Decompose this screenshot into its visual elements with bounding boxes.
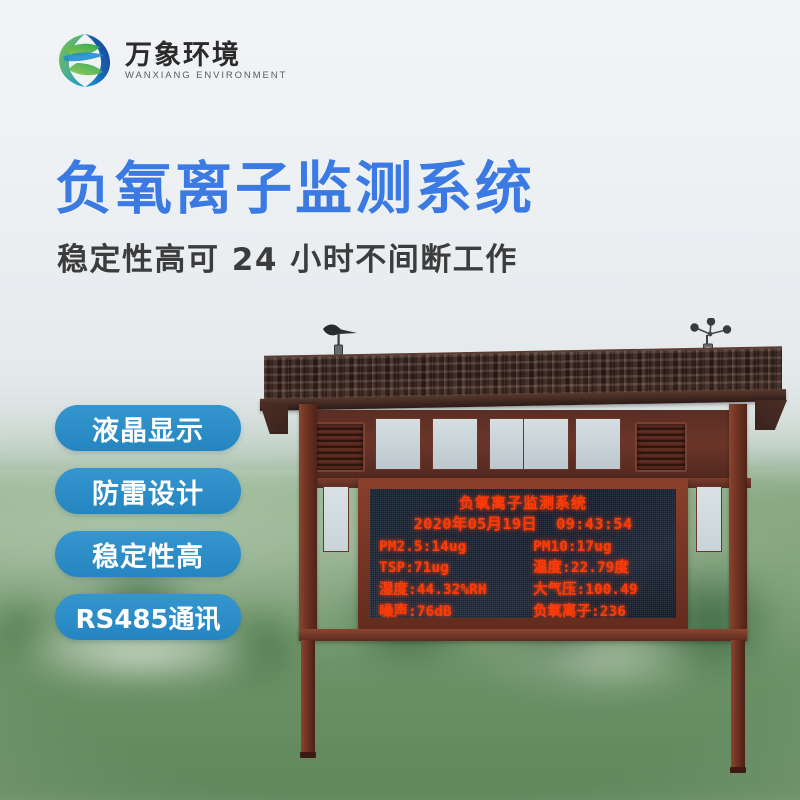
led-display-screen[interactable]: 负氧离子监测系统 2020年05月19日 09:43:54 PM2.5:14ug… [370, 489, 676, 618]
wind-vane-icon [317, 320, 361, 358]
feature-badge-lcd-display[interactable]: 液晶显示 [55, 405, 241, 451]
page-stage: 万象环境 WANXIANG ENVIRONMENT 负氧离子监测系统 稳定性高可… [0, 0, 800, 800]
support-post-right [729, 404, 747, 640]
support-post-left [299, 404, 317, 640]
feature-badge-stability[interactable]: 稳定性高 [55, 531, 241, 577]
led-datetime: 2020年05月19日 09:43:54 [379, 514, 667, 534]
led-date: 2020年05月19日 [414, 515, 537, 533]
reading-pm25: PM2.5:14ug [379, 537, 521, 558]
reading-pressure: 大气压:100.49 [525, 580, 667, 601]
support-leg-right [731, 640, 745, 770]
frame-opening-4 [523, 418, 569, 470]
reading-humidity: 湿度:44.32%RH [379, 580, 521, 601]
side-opening-right [696, 486, 722, 552]
globe-swirl-logo-icon [54, 30, 116, 92]
leg-base-right [730, 767, 746, 773]
reading-anion: 负氧离子:236 [525, 602, 667, 618]
frame-opening-2 [432, 418, 478, 470]
louver-vent-left [313, 422, 365, 472]
brand-name-en: WANXIANG ENVIRONMENT [125, 71, 287, 81]
leg-base-left [300, 752, 316, 758]
brand-logo-text: 万象环境 WANXIANG ENVIRONMENT [125, 42, 287, 81]
led-display-housing: 负氧离子监测系统 2020年05月19日 09:43:54 PM2.5:14ug… [358, 478, 688, 630]
roof-eave-left [260, 404, 288, 434]
frame-opening-5 [575, 418, 621, 470]
reading-noise: 噪声:76dB [379, 602, 521, 618]
led-readout: 负氧离子监测系统 2020年05月19日 09:43:54 PM2.5:14ug… [370, 489, 676, 618]
reading-pm10: PM10:17ug [525, 537, 667, 558]
page-title: 负氧离子监测系统 [55, 160, 535, 220]
brand-name-cn: 万象环境 [125, 42, 287, 69]
led-readings-grid: PM2.5:14ug PM10:17ug TSP:71ug 温度:22.79度 … [379, 537, 667, 618]
brand-logo: 万象环境 WANXIANG ENVIRONMENT [54, 30, 287, 92]
reading-tsp: TSP:71ug [379, 558, 521, 579]
monitoring-station: 负氧离子监测系统 2020年05月19日 09:43:54 PM2.5:14ug… [255, 318, 790, 768]
feature-badge-rs485[interactable]: RS485通讯 [55, 594, 241, 640]
feature-badge-list: 液晶显示 防雷设计 稳定性高 RS485通讯 [55, 405, 241, 640]
feature-badge-lightning[interactable]: 防雷设计 [55, 468, 241, 514]
louver-vent-right [635, 422, 687, 472]
support-leg-left [301, 640, 315, 755]
page-subtitle: 稳定性高可 24 小时不间断工作 [57, 243, 518, 277]
led-time: 09:43:54 [556, 515, 632, 533]
lower-cross-rail [299, 629, 747, 641]
reading-temp: 温度:22.79度 [525, 558, 667, 579]
side-opening-left [323, 486, 349, 552]
led-title: 负氧离子监测系统 [379, 494, 667, 513]
frame-opening-1 [375, 418, 421, 470]
roof-eave-right [755, 400, 787, 430]
